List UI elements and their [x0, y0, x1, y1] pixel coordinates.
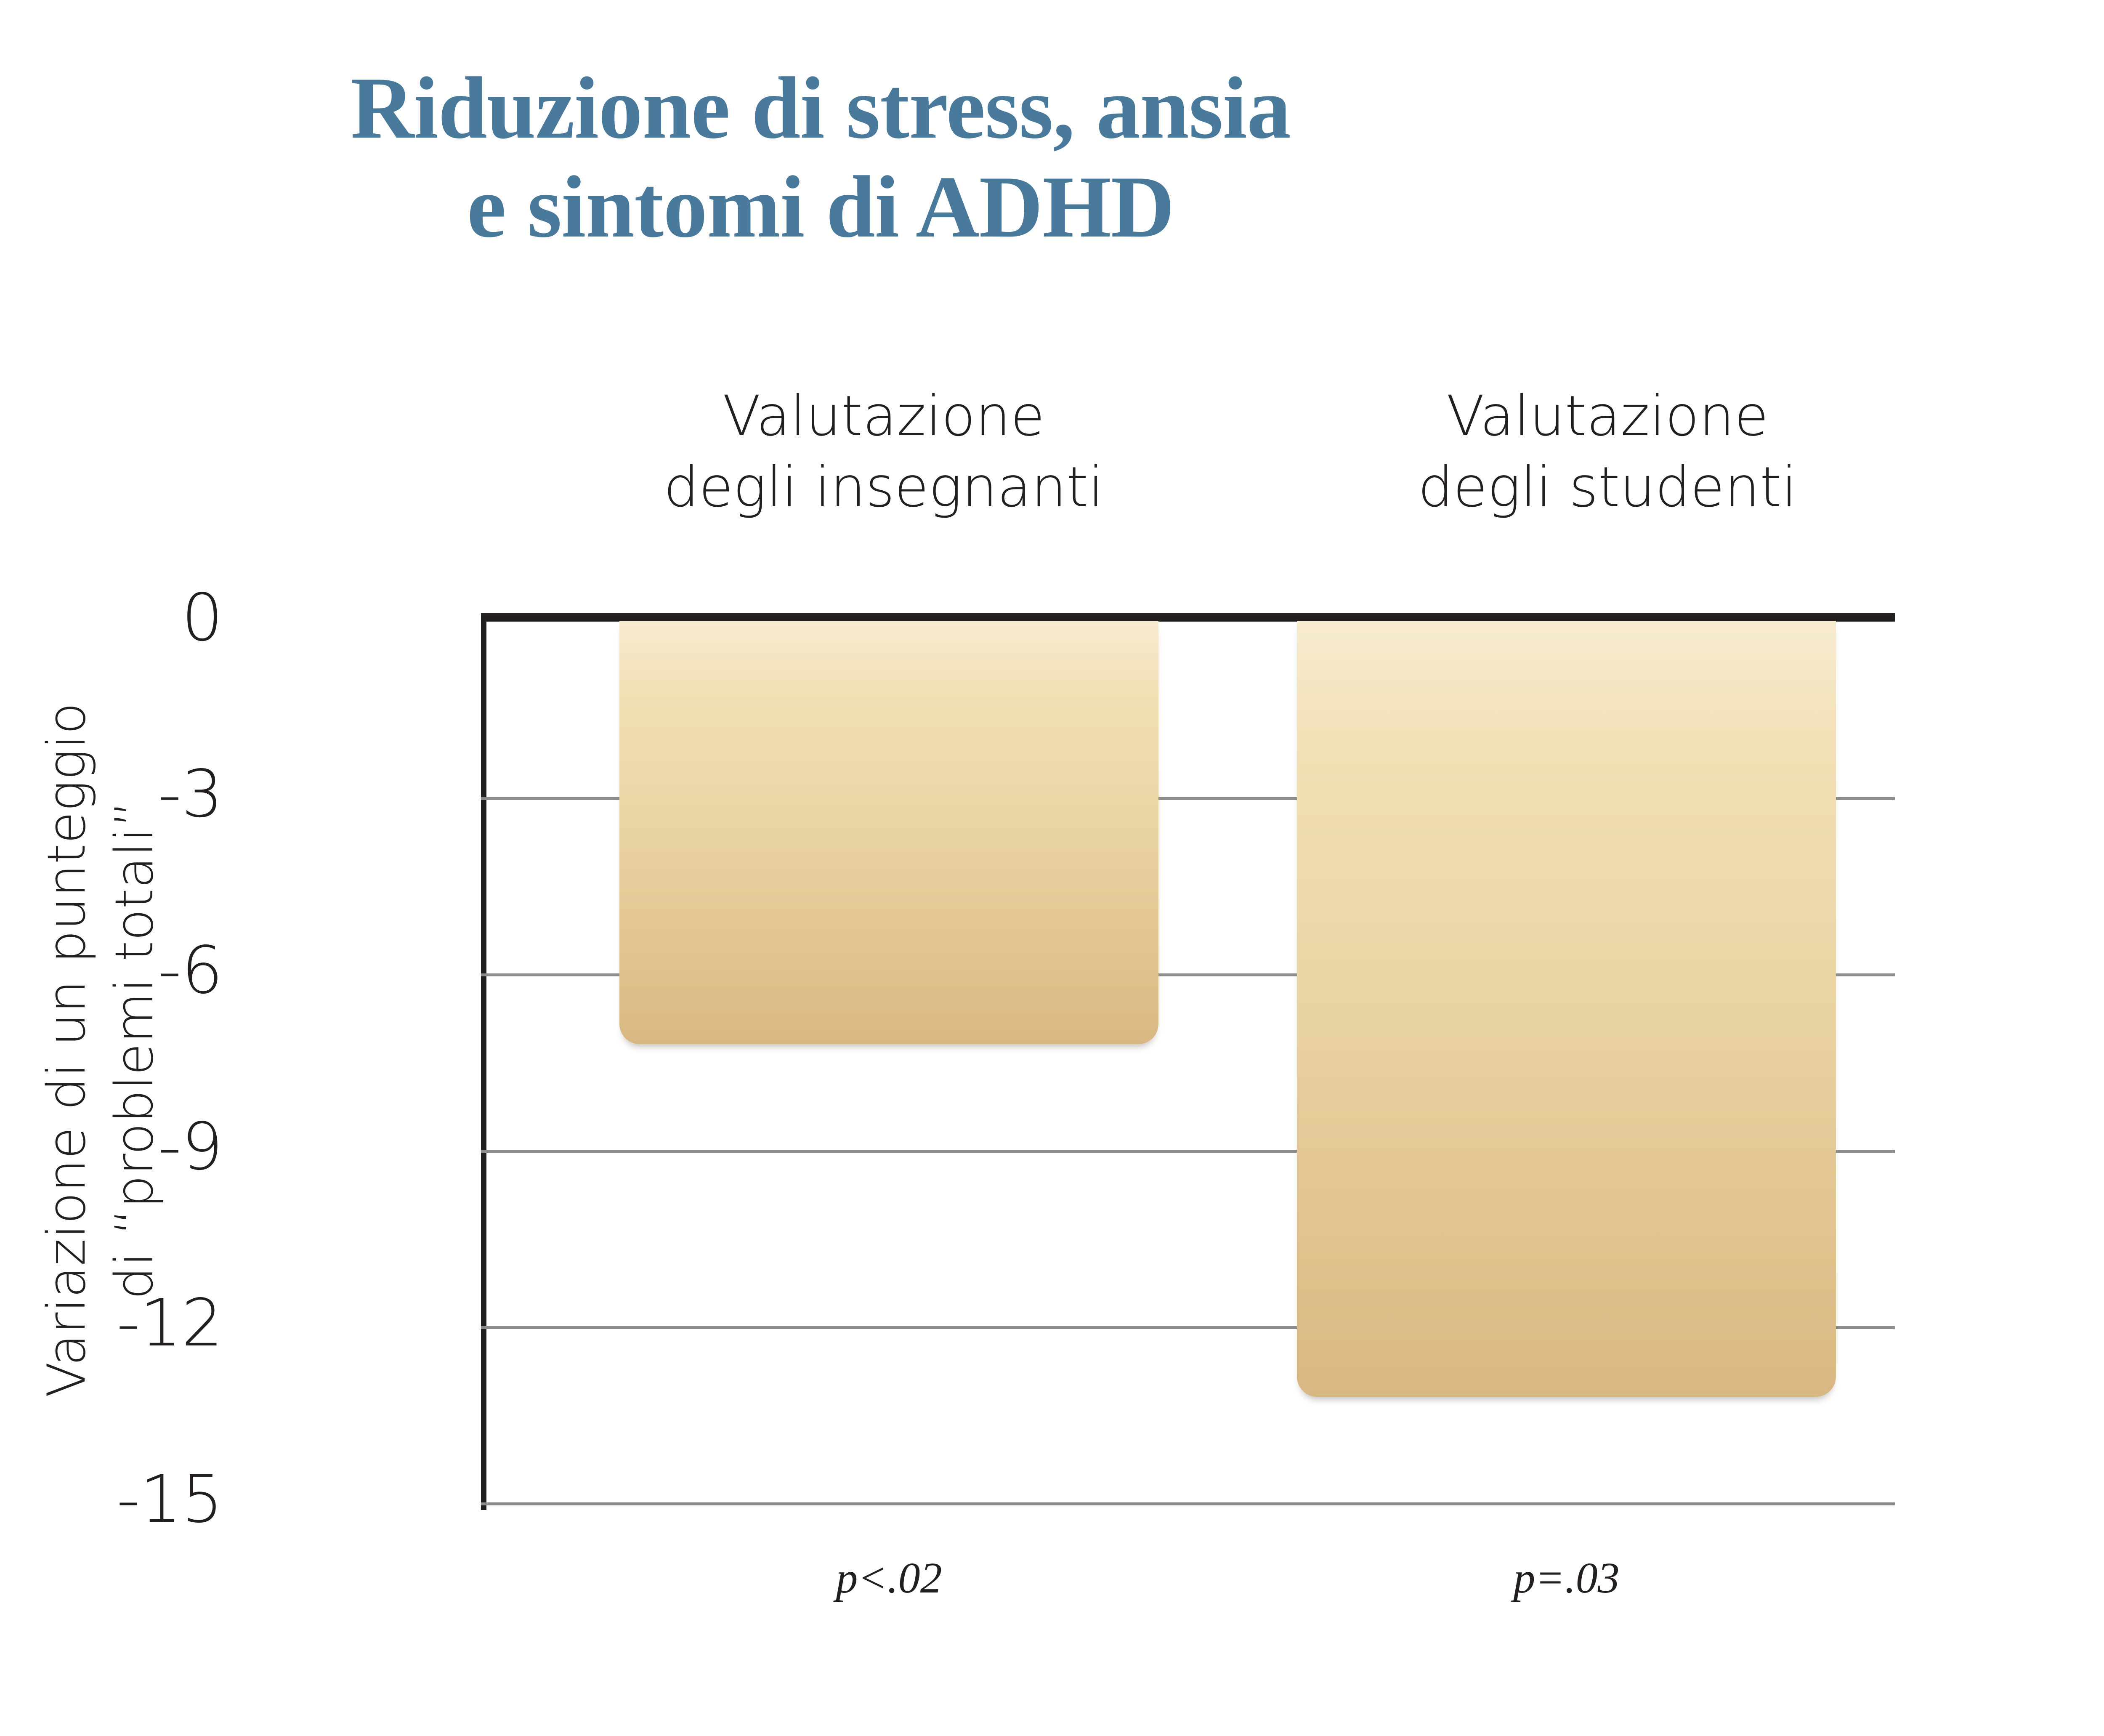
y-tick-label-0: 0: [29, 585, 223, 650]
plot-area: [481, 621, 1895, 1502]
axis-line-zero: [481, 613, 1895, 622]
page-title: Riduzione di stress, ansia e sintomi di …: [0, 59, 1641, 257]
y-tick-label-minus9: -9: [29, 1114, 223, 1179]
y-axis-title: Variazione di un punteggio di “problemi …: [33, 560, 169, 1540]
axis-line-left: [481, 613, 486, 1510]
bar-teachers[interactable]: [619, 621, 1158, 1044]
p-value-students: p=.03: [1297, 1553, 1836, 1603]
y-axis-title-container: Variazione di un punteggio di “problemi …: [0, 560, 202, 1540]
column-header-teachers: Valutazione degli insegnanti: [501, 381, 1267, 523]
gridline-minus15: [481, 1502, 1895, 1505]
bar-students[interactable]: [1297, 621, 1836, 1397]
chart-page: Riduzione di stress, ansia e sintomi di …: [0, 0, 2104, 1736]
y-tick-label-minus15: -15: [29, 1467, 223, 1532]
y-tick-label-minus6: -6: [29, 938, 223, 1003]
y-tick-label-minus12: -12: [29, 1290, 223, 1356]
p-value-teachers: p<.02: [619, 1553, 1158, 1603]
column-header-students: Valutazione degli studenti: [1262, 381, 1953, 523]
y-tick-label-minus3: -3: [29, 761, 223, 827]
